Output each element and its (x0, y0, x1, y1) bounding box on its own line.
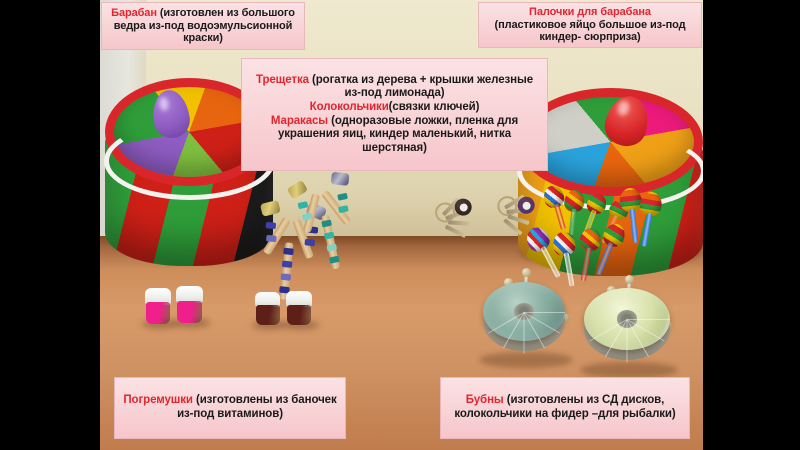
caption-drumsticks-text: (пластиковое яйцо большое из-под киндер-… (495, 19, 686, 44)
caption-tambourines-keyword: Бубны (466, 394, 504, 406)
caption-drumsticks: Палочки для барабана(пластиковое яйцо бо… (478, 2, 702, 48)
caption-tambourines: Бубны (изготовлены из СД дисков, колокол… (440, 377, 690, 439)
caption-treshchetka-text: (рогатка из дерева + крышки железные из-… (309, 74, 533, 100)
caption-kolokolchiki-text: (связки ключей) (389, 101, 480, 113)
caption-treshchetka-keyword: Трещетка (256, 74, 309, 86)
caption-shakers: Погремушки (изготовлены из баночек из-по… (114, 377, 346, 439)
caption-drum-keyword: Барабан (111, 7, 157, 19)
caption-marakasy-keyword: Маракасы (271, 115, 328, 127)
disc-sheen (524, 312, 525, 353)
caption-shakers-text: (изготовлены из баночек из-под витаминов… (177, 394, 337, 420)
tambourine-bell (522, 268, 531, 277)
tambourine-disc (584, 288, 670, 350)
caption-drumsticks-keyword: Палочки для барабана (529, 6, 651, 18)
caption-rattle-bells-maracas: Трещетка (рогатка из дерева + крышки жел… (241, 58, 548, 171)
caption-shakers-keyword: Погремушки (123, 394, 193, 406)
tambourine-bell (625, 275, 634, 284)
disc-sheen (524, 312, 565, 313)
disc-sheen (590, 319, 628, 341)
disc-sheen (627, 319, 628, 362)
tambourine-shadow (580, 362, 678, 378)
tambourine-disc (483, 282, 565, 341)
tambourine-shadow (479, 352, 573, 368)
slide-root: Барабан (изготовлен из большого ведра из… (0, 0, 800, 450)
caption-kolokolchiki-keyword: Колокольчики (310, 101, 389, 113)
disc-sheen (627, 319, 670, 320)
caption-drum: Барабан (изготовлен из большого ведра из… (101, 2, 305, 50)
